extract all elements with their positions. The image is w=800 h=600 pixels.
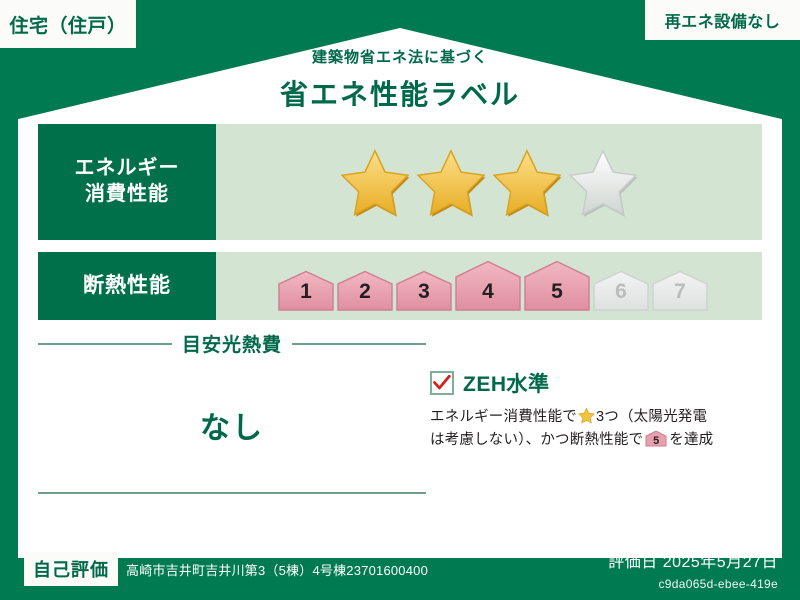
checkmark-icon bbox=[433, 375, 451, 391]
rule-line-right bbox=[292, 343, 426, 345]
insulation-performance-label: 断熱性能 bbox=[38, 252, 216, 320]
insulation-level-badge: 3 bbox=[396, 270, 452, 312]
title-main: 省エネ性能ラベル bbox=[0, 73, 800, 113]
insulation-level-number: 5 bbox=[524, 280, 590, 304]
energy-performance-row: エネルギー 消費性能 bbox=[38, 124, 762, 240]
star-filled-icon bbox=[339, 147, 411, 217]
star-filled-icon bbox=[491, 147, 563, 217]
property-address: 高崎市吉井町吉井川第3（5棟）4号棟23701600400 bbox=[126, 560, 428, 579]
zeh-description: エネルギー消費性能で 3つ（太陽光発電 は考慮しない）、かつ断熱性能で 5 を達… bbox=[430, 406, 770, 453]
evaluation-date: 評価日 2025年5月27日 bbox=[608, 548, 778, 572]
insulation-performance-row: 断熱性能 1234567 bbox=[38, 252, 762, 320]
zeh-heading: ZEH水準 bbox=[430, 368, 770, 398]
zeh-checkbox[interactable] bbox=[430, 371, 454, 395]
insulation-level-badge: 6 bbox=[593, 270, 649, 312]
insulation-performance-value: 1234567 bbox=[216, 252, 762, 320]
zeh-desc-part2: は考慮しない）、かつ断熱性能で bbox=[430, 432, 643, 448]
energy-performance-label: エネルギー 消費性能 bbox=[38, 124, 216, 240]
evaluation-id: c9da065d-ebee-419e bbox=[608, 577, 778, 591]
title-subtitle: 建築物省エネ法に基づく bbox=[0, 46, 800, 67]
label-footer: 自己評価 高崎市吉井町吉井川第3（5棟）4号棟23701600400 評価日 2… bbox=[0, 540, 800, 600]
star-rating bbox=[339, 147, 639, 217]
energy-label-line1: エネルギー bbox=[75, 156, 180, 182]
utility-cost-block: 目安光熱費 なし bbox=[38, 330, 426, 447]
utility-cost-title: 目安光熱費 bbox=[182, 330, 282, 357]
insulation-level-number: 6 bbox=[593, 280, 649, 304]
zeh-desc-star-count: 3つ（太陽光発電 bbox=[596, 409, 707, 425]
zeh-title: ZEH水準 bbox=[463, 368, 550, 398]
utility-cost-heading: 目安光熱費 bbox=[38, 330, 426, 357]
utility-cost-value: なし bbox=[38, 403, 426, 447]
star-empty-icon bbox=[567, 147, 639, 217]
energy-performance-value bbox=[216, 124, 762, 240]
insulation-level-badge: 5 bbox=[524, 260, 590, 312]
insulation-level-number: 1 bbox=[278, 280, 334, 304]
energy-label-line2: 消費性能 bbox=[85, 182, 169, 208]
inline-house-number: 5 bbox=[645, 436, 667, 447]
inline-house-badge: 5 bbox=[645, 430, 667, 447]
star-filled-icon bbox=[415, 147, 487, 217]
insulation-level-badge: 1 bbox=[278, 270, 334, 312]
zeh-standard-block: ZEH水準 エネルギー消費性能で 3つ（太陽光発電 は考慮しない）、かつ断熱性能… bbox=[430, 368, 770, 453]
renewable-energy-tag: 再エネ設備なし bbox=[645, 0, 800, 40]
insulation-level-badge: 4 bbox=[455, 260, 521, 312]
building-type-tag: 住宅（住戸） bbox=[0, 0, 136, 48]
insulation-level-badge: 7 bbox=[652, 270, 708, 312]
zeh-desc-part3: を達成 bbox=[669, 432, 713, 448]
zeh-desc-part1: エネルギー消費性能で bbox=[430, 409, 577, 425]
insulation-level-number: 3 bbox=[396, 280, 452, 304]
utility-cost-bottom-rule bbox=[38, 492, 426, 494]
insulation-level-number: 2 bbox=[337, 280, 393, 304]
label-title: 建築物省エネ法に基づく 省エネ性能ラベル bbox=[0, 46, 800, 113]
self-evaluation-tag: 自己評価 bbox=[24, 552, 118, 586]
insulation-level-scale: 1234567 bbox=[278, 260, 708, 312]
energy-performance-label: 住宅（住戸） 再エネ設備なし 建築物省エネ法に基づく 省エネ性能ラベル エネルギ… bbox=[0, 0, 800, 600]
insulation-level-number: 7 bbox=[652, 280, 708, 304]
footer-right-group: 評価日 2025年5月27日 c9da065d-ebee-419e bbox=[608, 548, 778, 591]
footer-left-group: 自己評価 高崎市吉井町吉井川第3（5棟）4号棟23701600400 bbox=[24, 552, 428, 586]
inline-star-icon bbox=[578, 407, 595, 424]
insulation-level-badge: 2 bbox=[337, 270, 393, 312]
rule-line-left bbox=[38, 343, 172, 345]
insulation-level-number: 4 bbox=[455, 280, 521, 304]
